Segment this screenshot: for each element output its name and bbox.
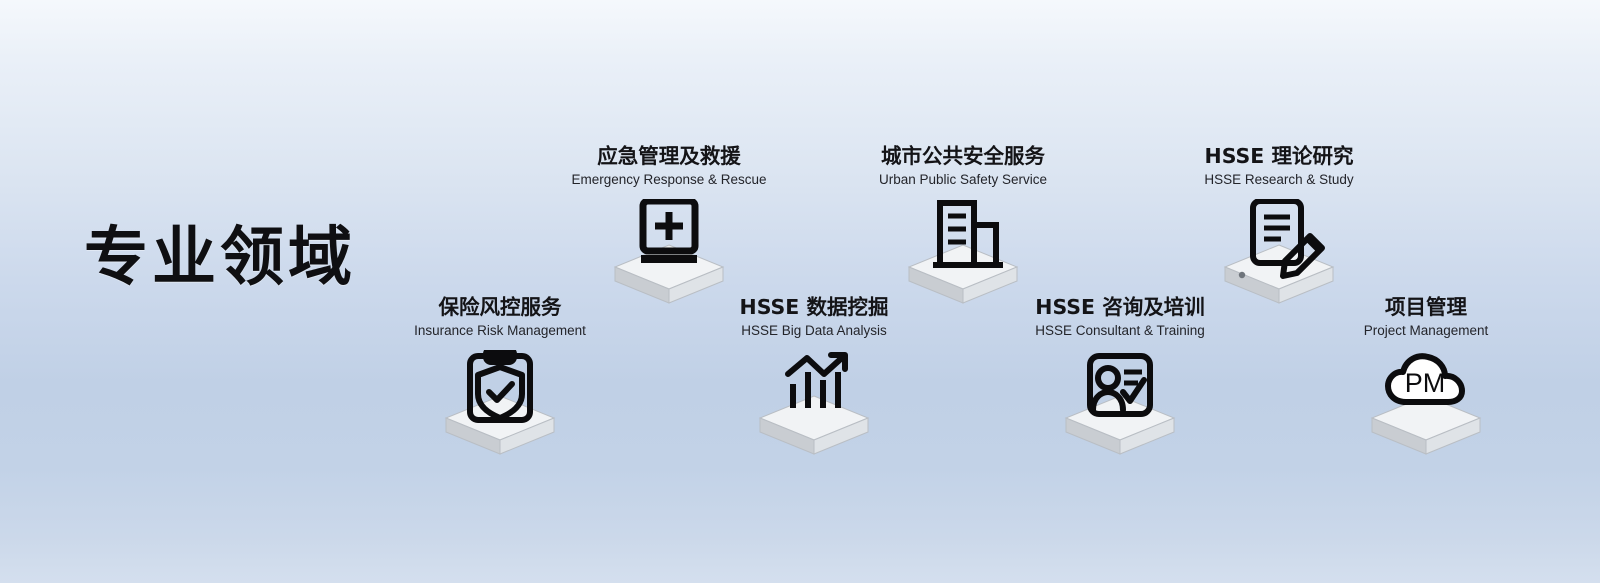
- service-title-en: Urban Public Safety Service: [833, 172, 1093, 188]
- service-artwork: [1149, 199, 1409, 307]
- service-hsse-research-study[interactable]: HSSE 理论研究 HSSE Research & Study: [1149, 145, 1409, 307]
- bar-chart-trend-icon: [744, 350, 884, 458]
- cloud-pm-label: PM: [1405, 368, 1446, 398]
- service-title-en: HSSE Consultant & Training: [990, 323, 1250, 339]
- page-title: 专业领域: [84, 226, 356, 290]
- service-emergency-response-rescue[interactable]: 应急管理及救援 Emergency Response & Rescue: [539, 145, 799, 307]
- service-project-management[interactable]: 项目管理 Project Management PM: [1296, 296, 1556, 458]
- service-title-cn: 项目管理: [1296, 296, 1556, 320]
- service-title-en: HSSE Big Data Analysis: [684, 323, 944, 339]
- service-title-en: Project Management: [1296, 323, 1556, 339]
- service-title-cn: HSSE 理论研究: [1149, 145, 1409, 169]
- first-aid-glyph: [641, 201, 697, 259]
- cloud-pm-icon: PM: [1356, 350, 1496, 458]
- service-title-cn: HSSE 咨询及培训: [990, 296, 1250, 320]
- service-hsse-consultant-training[interactable]: HSSE 咨询及培训 HSSE Consultant & Training: [990, 296, 1250, 458]
- pedestal-slab: [909, 245, 1017, 303]
- service-urban-public-safety-service[interactable]: 城市公共安全服务 Urban Public Safety Service: [833, 145, 1093, 307]
- city-buildings-icon: [893, 199, 1033, 307]
- service-title-cn: 保险风控服务: [370, 296, 630, 320]
- service-insurance-risk-management[interactable]: 保险风控服务 Insurance Risk Management: [370, 296, 630, 458]
- service-title-cn: 应急管理及救援: [539, 145, 799, 169]
- pedestal-slab: [760, 396, 868, 454]
- person-id-check-icon: [1050, 350, 1190, 458]
- service-artwork: [370, 350, 630, 458]
- service-artwork: [833, 199, 1093, 307]
- service-title-en: HSSE Research & Study: [1149, 172, 1409, 188]
- service-artwork: [684, 350, 944, 458]
- service-title-cn: 城市公共安全服务: [833, 145, 1093, 169]
- trend-arrow-glyph: [788, 355, 845, 374]
- first-aid-cross-icon: [599, 199, 739, 307]
- service-title-en: Insurance Risk Management: [370, 323, 630, 339]
- service-artwork: [990, 350, 1250, 458]
- pedestal-slab: [446, 396, 554, 454]
- service-hsse-big-data-analysis[interactable]: HSSE 数据挖掘 HSSE Big Data Analysis: [684, 296, 944, 458]
- service-artwork: PM: [1296, 350, 1556, 458]
- service-artwork: [539, 199, 799, 307]
- document-pencil-icon: [1209, 199, 1349, 307]
- clipboard-shield-check-icon: [430, 350, 570, 458]
- service-title-cn: HSSE 数据挖掘: [684, 296, 944, 320]
- service-title-en: Emergency Response & Rescue: [539, 172, 799, 188]
- professional-fields-banner: 专业领域 应急管理及救援 Emergency Response & Rescue: [0, 0, 1600, 583]
